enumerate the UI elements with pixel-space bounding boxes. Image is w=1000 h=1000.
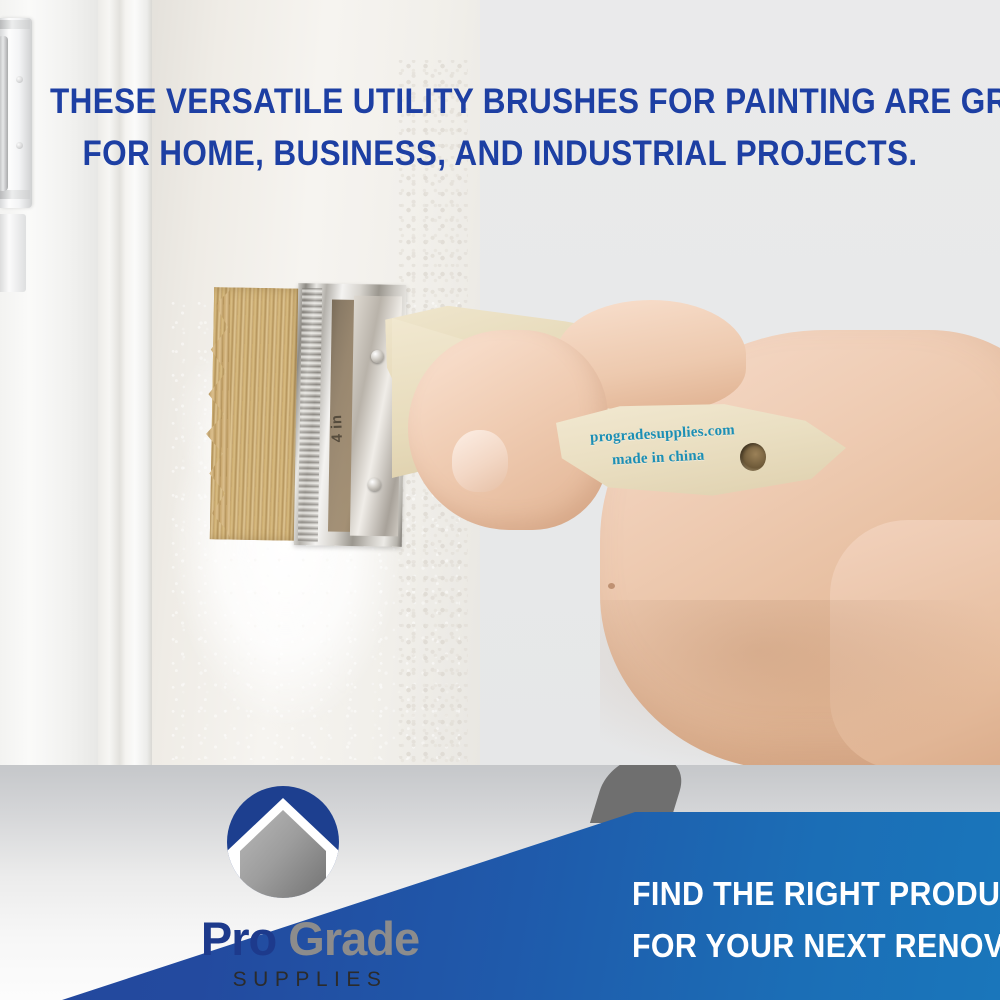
cta-line-1: FIND THE RIGHT PRODUCT	[632, 868, 1000, 920]
logo-word-grade: Grade	[288, 912, 419, 965]
marketing-image-canvas: 4 in progradesupplies.com made in china …	[0, 0, 1000, 1000]
brush-hang-hole	[740, 443, 766, 471]
brush-size-marking: 4 in	[327, 381, 369, 442]
house-in-circle-icon	[218, 780, 348, 910]
logo-word-pro: Pro	[201, 912, 276, 965]
cta-line-2: FOR YOUR NEXT RENOVATION	[632, 920, 1000, 972]
logo-tagline: SUPPLIES	[160, 968, 460, 992]
brush-rivet-top	[371, 350, 384, 363]
headline-line-1: THESE VERSATILE UTILITY BRUSHES FOR PAIN…	[50, 76, 950, 128]
cta-text-block: FIND THE RIGHT PRODUCT FOR YOUR NEXT REN…	[632, 868, 1000, 972]
thumbnail	[452, 430, 508, 492]
headline-line-2: FOR HOME, BUSINESS, AND INDUSTRIAL PROJE…	[50, 128, 950, 180]
hand-shading	[600, 600, 1000, 765]
skin-mole	[608, 583, 615, 589]
logo-wordmark: Pro Grade	[160, 913, 460, 965]
headline: THESE VERSATILE UTILITY BRUSHES FOR PAIN…	[0, 76, 1000, 180]
brand-logo: Pro Grade SUPPLIES	[160, 780, 460, 990]
product-photo: 4 in progradesupplies.com made in china …	[0, 0, 1000, 765]
brush-rivet-bottom	[368, 478, 381, 491]
